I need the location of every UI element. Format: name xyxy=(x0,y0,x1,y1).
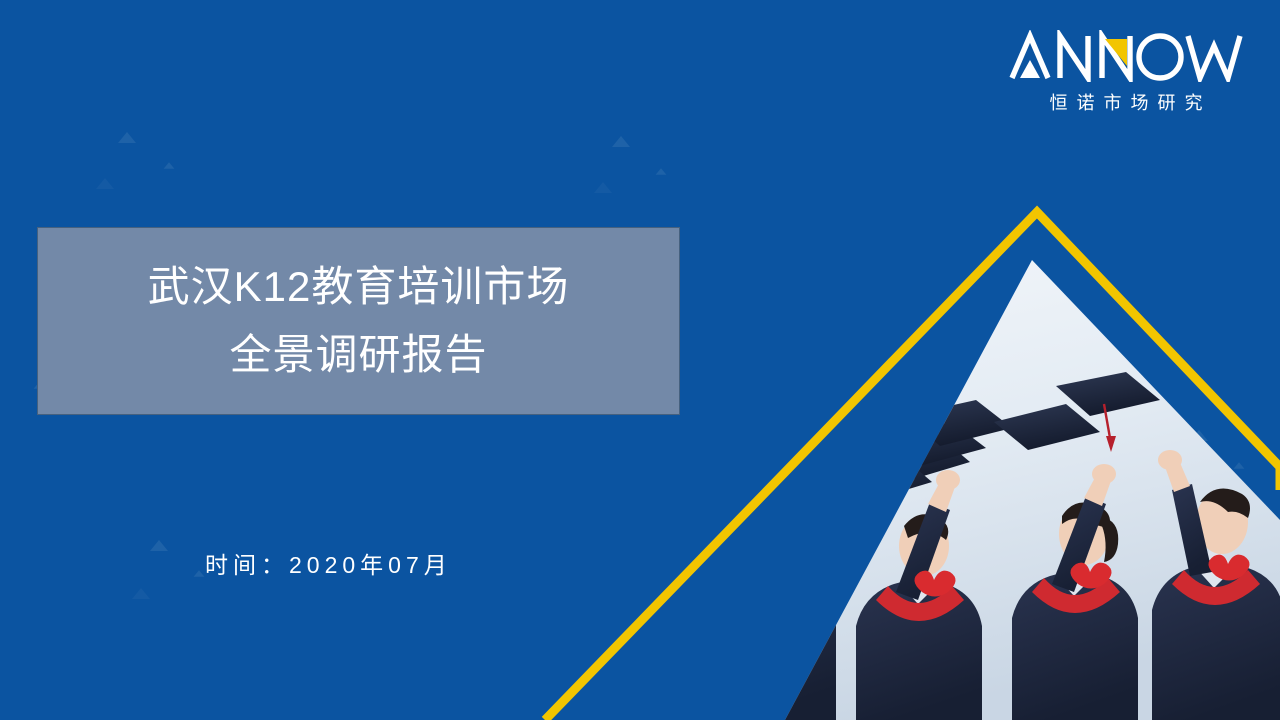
report-date: 时间：2020年07月 xyxy=(205,546,452,580)
title-panel: 武汉K12教育培训市场 全景调研报告 xyxy=(37,227,680,415)
title-slide: 武汉K12教育培训市场 全景调研报告 时间：2020年07月 xyxy=(0,0,1280,720)
brand-subtitle: 恒诺市场研究 xyxy=(1008,89,1244,115)
brand-logo: 恒诺市场研究 xyxy=(1008,30,1244,115)
page-title-line1: 武汉K12教育培训市场 xyxy=(148,266,570,308)
annow-wordmark-icon xyxy=(1008,30,1244,82)
page-title-line2: 全景调研报告 xyxy=(229,334,487,376)
